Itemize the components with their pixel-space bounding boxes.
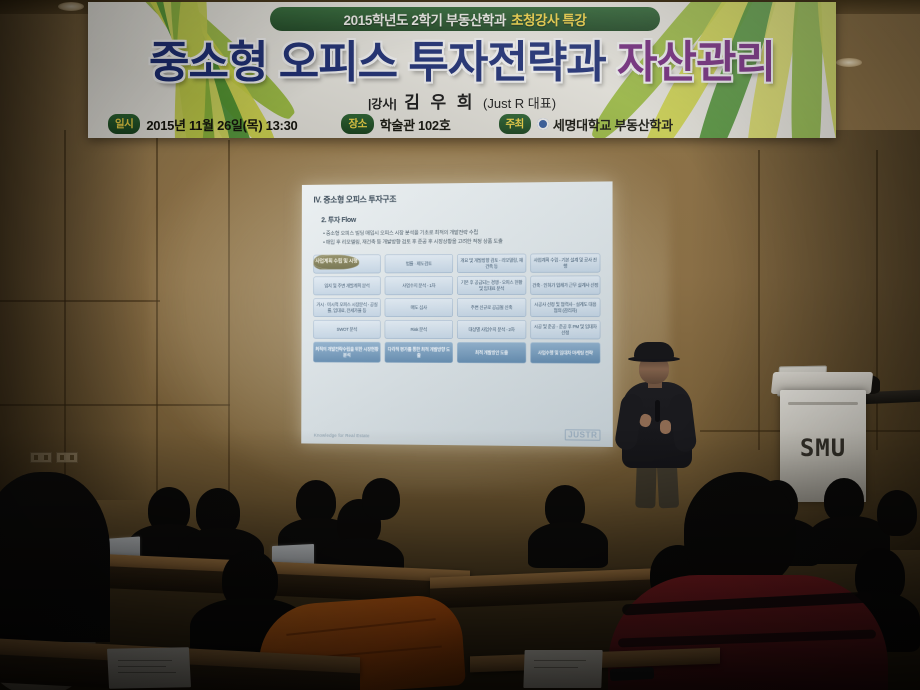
university-emblem-icon [537,118,549,130]
slide-tagline: Knowledge for Real Estate [314,433,370,439]
audience-head-foreground [684,472,796,588]
audience-head [362,478,400,520]
presenter-hat [634,342,674,359]
flow-cell: 대상별 사업수지 분석 - 2차 [457,320,526,339]
paper-text-line [534,660,586,661]
projected-slide: IV. 중소형 오피스 투자구조 2. 투자 Flow • 중소형 오피스 빌딩… [301,181,613,447]
flow-cell: 입지 및 주변 개발계획 분석 [313,276,381,295]
flow-summary-cell: 다각적 평가를 통한 최적 개발방향 도출 [385,342,453,363]
flow-summary-cell: 최적의 개발전략수립을 위한 시장현황 분석 [313,342,381,363]
investment-flow-grid: 시장분석 개발타당성 분석 사업분석 사업계획 수립 및 시행 물건 검토 법률… [313,253,600,363]
flow-cell: 사업수지 분석 - 1차 [385,276,453,295]
speaker-name: 김 우 희 [404,93,475,112]
date-pill-label: 일시 [108,114,140,134]
banner-info-row: 일시 2015년 11월 26일(목) 13:30 장소 학술관 102호 주최… [108,114,818,134]
flow-cell: 거시 · 미시적 오피스 시장분석 - 공실률, 임대료, 전세가율 등 [313,298,381,317]
speaker-label: |강사| [368,97,397,111]
flow-cell: 주변 신규로 공급될 신축 [457,298,526,317]
flow-cell: 건축 · 인허가 업체가 근무 설계사 선정 [530,276,600,295]
flow-cell: Risk 분석 [385,320,453,339]
slide-subtitle: 2. 투자 Flow [321,215,356,225]
place-pill-label: 장소 [341,114,373,134]
audience-shoulders [528,522,608,568]
paper-text-line [118,666,166,667]
flow-summary-cell: 사업수행 및 임대차 마케팅 전략 [530,342,600,363]
date-value: 2015년 11월 26일(목) 13:30 [146,115,297,134]
presenter-leg-right [657,464,679,509]
flow-cell: 법률 · 제도검토 [385,254,453,273]
flow-column-header: 사업계획 수립 및 시행 [313,255,359,270]
paper-text-line [118,672,176,673]
presenter-hand-right [660,420,671,434]
flow-cell: 매도 심사 [385,298,453,317]
banner-main-title: 중소형 오피스 투자전략과 자산관리 [88,26,836,90]
handout-paper [107,647,191,688]
place-value: 학술관 102호 [380,115,451,134]
banner-date-block: 일시 2015년 11월 26일(목) 13:30 [108,114,297,134]
speaker-affiliation: (Just R 대표) [483,96,556,111]
banner-title-purple: 자산관리 [617,38,775,87]
lectern-smu-logo: SMU [780,434,866,462]
presenter-leg-left [635,464,657,509]
flow-cell: 사업계획 수립 - 기본 설계 및 공사 진행 [530,253,600,272]
host-value: 세명대학교 부동산학과 [553,115,673,134]
flow-cell: 시공사 선정 및 협력사 - 설계도 대용 협의 (감리자) [530,298,600,317]
flow-cell: SWOT 분석 [313,320,381,339]
slide-title: IV. 중소형 오피스 투자구조 [313,194,396,206]
banner-speaker-line: |강사| 김 우 희 (Just R 대표) [88,88,836,113]
remote-control [610,667,655,681]
flow-cell: 개요 및 개발방향 검토 - 리모델링, 재건축 등 [457,254,526,273]
slide-bullet: • 매입 후 리모델링, 재건축 등 개발방향 검토 후 준공 후 시장상황을 … [323,237,602,248]
lectern-groove [788,402,858,405]
flow-cell: 기본 후 공급되는 경쟁 - 오피스 현황 및 임대료 분석 [457,276,526,295]
slide-company-logo: JUSTR [565,429,600,441]
paper-text-line [118,660,172,661]
lecture-hall-photo: 2015학년도 2학기 부동산학과 초청강사 특강 중소형 오피스 투자전략과 … [0,0,920,690]
flow-cell: 시공 및 준공 - 준공 후 PM 및 임대차 선정 [530,320,600,339]
presenter [608,342,708,502]
banner-title-blue: 중소형 오피스 투자전략과 [149,38,606,87]
banner-host-block: 주최 세명대학교 부동산학과 [499,114,673,134]
event-banner: 2015학년도 2학기 부동산학과 초청강사 특강 중소형 오피스 투자전략과 … [88,2,836,138]
audience-shoulders [0,472,110,642]
host-pill-label: 주최 [499,114,531,134]
microphone-icon [655,400,660,422]
audience-head [877,490,917,536]
paper-text-line [534,667,578,668]
banner-place-block: 장소 학술관 102호 [341,114,450,134]
handout-paper [523,650,602,688]
flow-summary-cell: 최적 개발방안 도출 [457,342,526,363]
ceiling-light-icon [836,58,862,67]
slide-bullet-list: • 중소형 오피스 빌딩 매입시 오피스 시장 분석을 기초로 최적의 개발전략… [323,228,602,248]
